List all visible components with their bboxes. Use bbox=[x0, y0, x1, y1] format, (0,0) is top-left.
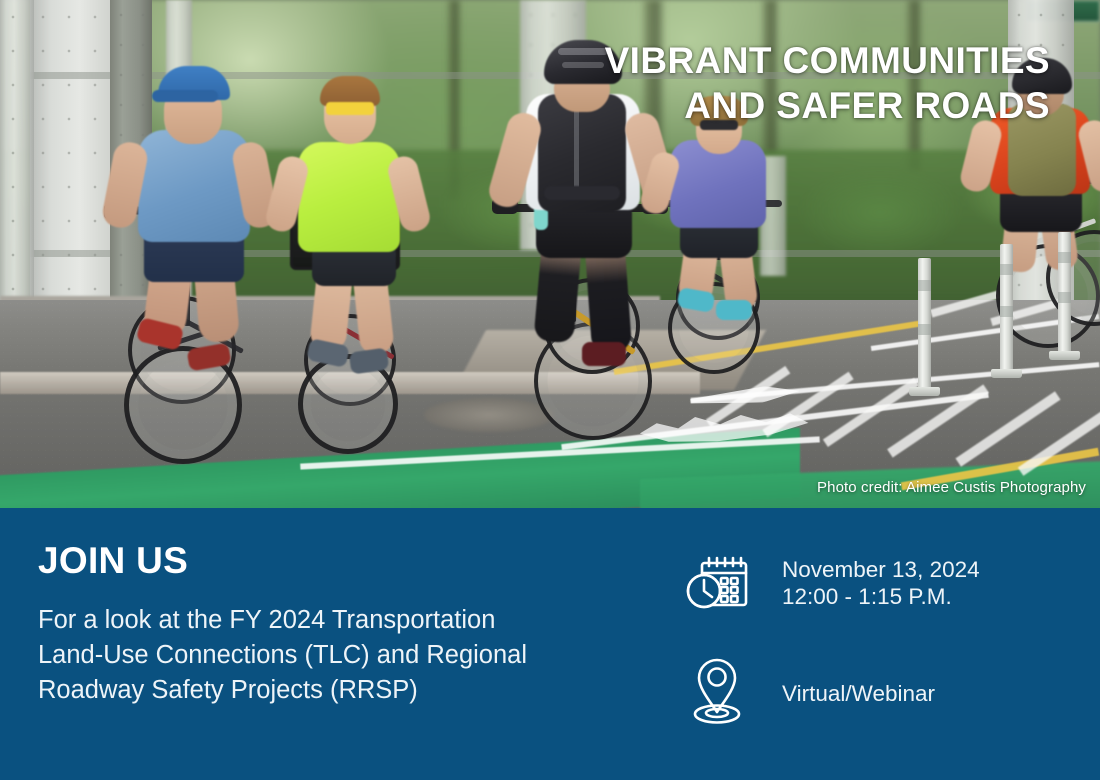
hero-photo: VIBRANT COMMUNITIES AND SAFER ROADS Phot… bbox=[0, 0, 1100, 508]
event-description: For a look at the FY 2024 Transportation… bbox=[38, 603, 658, 708]
delineator-post bbox=[1000, 244, 1013, 372]
torso bbox=[298, 142, 400, 252]
join-us-heading: JOIN US bbox=[38, 541, 658, 581]
location-row: Virtual/Webinar bbox=[686, 654, 1066, 728]
delineator-post bbox=[1058, 232, 1071, 354]
shoe bbox=[582, 342, 626, 366]
hero-headline: VIBRANT COMMUNITIES AND SAFER ROADS bbox=[605, 38, 1050, 128]
shoe bbox=[716, 300, 752, 320]
event-promo-poster: VIBRANT COMMUNITIES AND SAFER ROADS Phot… bbox=[0, 0, 1100, 780]
location-pin-icon bbox=[686, 654, 752, 728]
info-band-right: November 13, 2024 12:00 - 1:15 P.M. Vir bbox=[686, 554, 1066, 728]
cyclist-purple-top bbox=[644, 104, 804, 394]
torso bbox=[138, 130, 250, 242]
backpack-zipper bbox=[574, 106, 579, 198]
delineator-post bbox=[918, 258, 931, 390]
sunglasses bbox=[326, 102, 374, 115]
info-band: JOIN US For a look at the FY 2024 Transp… bbox=[0, 508, 1100, 780]
cyclist-neon-green-shirt bbox=[268, 64, 458, 464]
event-location: Virtual/Webinar bbox=[752, 654, 935, 707]
helmet-vent bbox=[562, 62, 604, 68]
date-time-row: November 13, 2024 12:00 - 1:15 P.M. bbox=[686, 554, 1066, 614]
photo-credit: Photo credit: Aimee Custis Photography bbox=[817, 479, 1086, 496]
event-date-time: November 13, 2024 12:00 - 1:15 P.M. bbox=[752, 554, 980, 610]
helmet-vent bbox=[558, 48, 608, 55]
cap-brim bbox=[152, 90, 218, 102]
info-band-left: JOIN US For a look at the FY 2024 Transp… bbox=[38, 541, 658, 708]
calendar-clock-icon bbox=[686, 554, 752, 614]
backpack-strap bbox=[544, 186, 620, 200]
